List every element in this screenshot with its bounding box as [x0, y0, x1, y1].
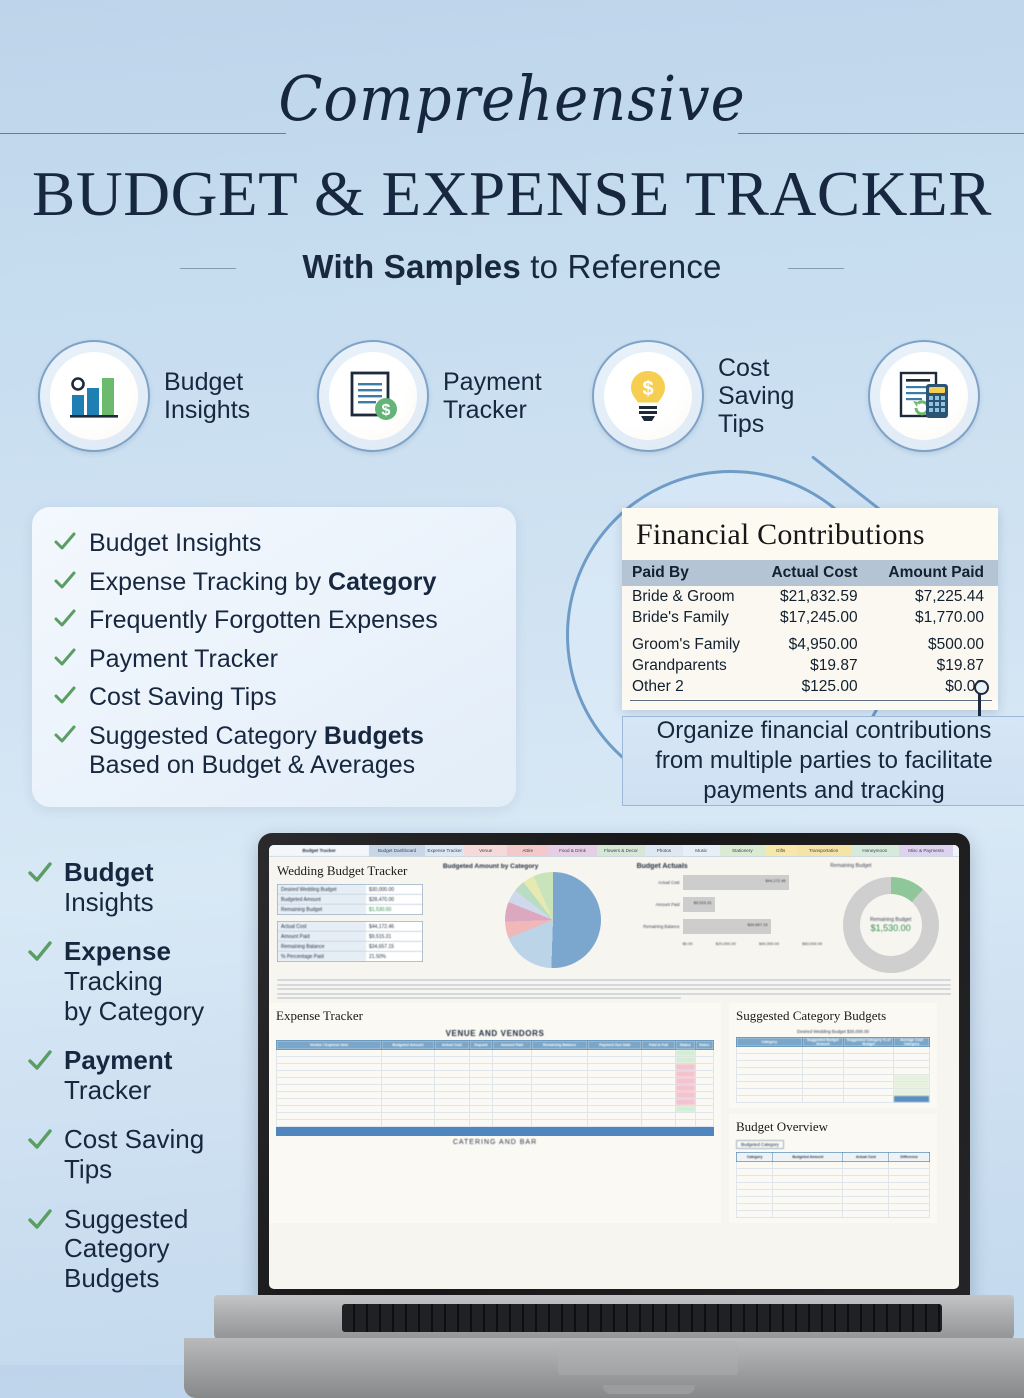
table-row: Groom's Family $4,950.00 $500.00: [622, 628, 998, 656]
bottom-list-text: PaymentTracker: [64, 1046, 172, 1105]
tab-food-drink[interactable]: Food & Drink: [548, 845, 596, 856]
bar-row: Actual Cost $44,172.46: [637, 875, 823, 890]
tab-music[interactable]: Music: [683, 845, 720, 856]
bottom-list-rest: Insights: [64, 887, 154, 917]
bottom-list-text: Suggested Category Budgets: [64, 1205, 188, 1294]
checklist-text-main: Expense Tracking by: [89, 568, 328, 596]
cell-value: $28,470.00: [366, 895, 422, 904]
checklist-text-main: Budget Insights: [89, 529, 261, 557]
table-header-row: Category Suggested Budget Amount Suggest…: [737, 1038, 930, 1047]
cell-value: 21.50%: [366, 952, 422, 961]
expense-tracker-title: Expense Tracker: [276, 1008, 714, 1024]
cell-paid-by: Bride & Groom: [622, 586, 755, 607]
bar: $34,657.15: [683, 919, 771, 934]
budget-overview-table[interactable]: Category Budgeted Amount Actual Cost Dif…: [736, 1152, 930, 1218]
bar-chart-title: Budget Actuals: [637, 863, 823, 870]
badge-document-calculator[interactable]: [868, 340, 980, 452]
table-row: % Percentage Paid21.50%: [278, 952, 422, 961]
table-row: Amount Paid$9,515.31: [278, 932, 422, 942]
list-item: Expense Tracking by Category: [54, 568, 496, 598]
column-header: Vendor / Expense Item: [277, 1041, 382, 1050]
badge-ring: $: [317, 340, 429, 452]
table-row: [277, 1057, 714, 1064]
cell-actual-cost: $19.87: [755, 656, 871, 677]
tab-photos[interactable]: Photos: [645, 845, 682, 856]
badge-cost-saving-tips[interactable]: $ Cost Saving Tips: [592, 340, 794, 452]
axis-tick: $20,000.00: [716, 941, 736, 946]
table-header-row: Paid By Actual Cost Amount Paid: [622, 560, 998, 586]
table-row: [737, 1183, 930, 1190]
column-header: Suggested Budget Amount: [802, 1038, 844, 1047]
cell-label: Desired Wedding Budget: [278, 885, 366, 894]
badge-label: Budget Insights: [164, 368, 250, 424]
checklist-text: Frequently Forgotten Expenses: [89, 606, 438, 636]
list-item: Payment Tracker: [54, 645, 496, 675]
suggested-budgets-panel: Suggested Category Budgets Desired Weddi…: [729, 1003, 937, 1108]
column-header: Average Cost Category: [894, 1038, 930, 1047]
cell-label: % Percentage Paid: [278, 952, 366, 961]
callout-box: Organize financial contributions from mu…: [622, 716, 1024, 806]
dashboard-row: Wedding Budget Tracker Desired Wedding B…: [277, 863, 951, 973]
column-header: Paid In Full: [642, 1041, 675, 1050]
table-row: Budgeted Amount$28,470.00: [278, 895, 422, 905]
checklist-text-main: Frequently Forgotten Expenses: [89, 606, 438, 634]
column-header: Deposit: [469, 1041, 493, 1050]
cell-label: Remaining Budget: [278, 905, 366, 914]
cell-amount-paid: $19.87: [872, 656, 998, 677]
checklist-text-main: Cost Saving Tips: [89, 683, 277, 711]
cell-paid-by: Bride's Family: [622, 607, 755, 628]
donut-caption: Remaining Budget: [830, 863, 951, 869]
budget-overview-title: Budget Overview: [736, 1119, 930, 1135]
badge-label: Cost Saving Tips: [718, 354, 794, 438]
list-item: Suggested Category Budgets Based on Budg…: [54, 722, 496, 781]
table-row: [737, 1061, 930, 1068]
table-row: [737, 1204, 930, 1211]
badge-ring: [868, 340, 980, 452]
tab-honeymoon[interactable]: Honeymoon: [851, 845, 899, 856]
bottom-list-text: BudgetInsights: [64, 858, 154, 917]
badge-label-line1: Budget: [164, 368, 250, 396]
badge-inner: [50, 352, 138, 440]
bottom-list-rest: Tracking by Category: [64, 966, 204, 1026]
bar: $44,172.46: [683, 875, 789, 890]
cell-value: $9,515.31: [366, 932, 422, 941]
cell-value: $34,657.15: [366, 942, 422, 951]
bar-chart-icon: [67, 371, 121, 421]
laptop-screen: Budget Tracker Budget Dashboard Expense …: [269, 845, 959, 1289]
table-row: [277, 1113, 714, 1120]
table-row: [277, 1085, 714, 1092]
table-row: [737, 1054, 930, 1061]
column-header-paid-by: Paid By: [622, 560, 755, 586]
bottom-feature-list: BudgetInsights ExpenseTracking by Catego…: [28, 858, 278, 1314]
check-icon: [28, 1209, 52, 1237]
bar-value: $34,657.15: [748, 922, 768, 927]
table-header-row: Category Budgeted Amount Actual Cost Dif…: [737, 1153, 930, 1162]
laptop-mockup: Budget Tracker Budget Dashboard Expense …: [258, 833, 970, 1365]
check-icon: [28, 1050, 52, 1078]
text-line: [277, 993, 951, 995]
cell-paid-by: Groom's Family: [622, 628, 755, 656]
table-row: Remaining Balance$34,657.15: [278, 942, 422, 952]
bar-row: Amount Paid $9,515.31: [637, 897, 823, 912]
table-row: [277, 1120, 714, 1127]
bar-chart-panel: Budget Actuals Actual Cost $44,172.46 Am…: [637, 863, 823, 973]
tab-expense-tracker[interactable]: Expense Tracker: [425, 845, 464, 856]
check-icon: [28, 862, 52, 890]
page-header: Comprehensive BUDGET & EXPENSE TRACKER W…: [0, 0, 1024, 320]
right-panels: Suggested Category Budgets Desired Weddi…: [729, 1003, 937, 1223]
column-header: Status: [675, 1041, 695, 1050]
overview-filter-row[interactable]: Budgeted Category: [736, 1140, 930, 1149]
lower-section: Expense Tracker VENUE AND VENDORS Vendor…: [269, 1003, 959, 1223]
badge-label-line2: Saving: [718, 382, 794, 410]
check-icon: [54, 609, 76, 635]
column-header: Payment Due Date: [588, 1041, 642, 1050]
feature-badges: Budget Insights $ Payment Tracker: [0, 340, 1024, 470]
badge-budget-insights[interactable]: Budget Insights: [38, 340, 250, 452]
feature-checklist-card: Budget Insights Expense Tracking by Cate…: [32, 507, 516, 807]
bar-chart-axis: $0.00 $20,000.00 $40,000.00 $60,000.00: [683, 941, 823, 946]
table-row: [737, 1197, 930, 1204]
badge-label-line1: Cost: [718, 354, 794, 382]
table-row: [737, 1075, 930, 1082]
badge-ring: [38, 340, 150, 452]
checklist-text-main: Payment Tracker: [89, 645, 278, 673]
svg-text:$: $: [382, 402, 391, 419]
axis-tick: $40,000.00: [759, 941, 779, 946]
expense-tracker-table[interactable]: Vendor / Expense Item Budgeted Amount Ac…: [276, 1040, 714, 1127]
budget-overview-panel: Budget Overview Budgeted Category Catego…: [729, 1114, 937, 1223]
checklist-text: Cost Saving Tips: [89, 683, 277, 713]
document-dollar-icon: $: [346, 369, 400, 423]
cell-label: Amount Paid: [278, 932, 366, 941]
badge-inner: [880, 352, 968, 440]
dashboard-section: Wedding Budget Tracker Desired Wedding B…: [269, 857, 959, 979]
table-row: [737, 1176, 930, 1183]
checklist-text-group: Suggested Category Budgets Based on Budg…: [89, 722, 424, 781]
overview-filter-dropdown[interactable]: Budgeted Category: [736, 1140, 784, 1149]
badge-label-line3: Tips: [718, 410, 794, 438]
table-row: [737, 1169, 930, 1176]
table-row: [737, 1047, 930, 1054]
table-underline: [630, 700, 992, 702]
bar-value: $44,172.46: [766, 878, 786, 883]
table-row: Grandparents $19.87 $19.87: [622, 656, 998, 677]
expense-bottom-section-header: CATERING AND BAR: [276, 1136, 714, 1149]
bottom-list-bold: Expense: [64, 936, 171, 966]
laptop-trackpad[interactable]: [558, 1341, 738, 1375]
table-row: [737, 1096, 930, 1103]
list-item: ExpenseTracking by Category: [28, 937, 278, 1026]
bar-row: Remaining Balance $34,657.15: [637, 919, 823, 934]
table-row: [737, 1162, 930, 1169]
laptop-keyboard[interactable]: [342, 1304, 942, 1332]
summary-table-actuals: Actual Cost$44,172.46 Amount Paid$9,515.…: [277, 921, 423, 962]
cell-paid-by: Other 2: [622, 677, 755, 698]
cell-amount-paid: $500.00: [872, 628, 998, 656]
cell-paid-by: Grandparents: [622, 656, 755, 677]
svg-text:$: $: [642, 378, 653, 400]
badge-inner: $: [604, 352, 692, 440]
pie-chart-title: Budgeted Amount by Category: [443, 863, 629, 870]
badge-label-line1: Payment: [443, 368, 542, 396]
list-item: Budget Insights: [54, 529, 496, 559]
cell-amount-paid: $1,770.00: [872, 607, 998, 628]
dashboard-title: Wedding Budget Tracker: [277, 863, 435, 879]
spreadsheet-tab-bar[interactable]: Budget Tracker Budget Dashboard Expense …: [269, 845, 959, 857]
suggested-budgets-subtitle: Desired Wedding Budget $30,000.00: [736, 1029, 930, 1034]
column-header: Remaining Balance: [531, 1041, 588, 1050]
table-row: [277, 1050, 714, 1057]
tab-flowers-decor[interactable]: Flowers & Decor: [597, 845, 645, 856]
list-item: PaymentTracker: [28, 1046, 278, 1105]
badge-label: Payment Tracker: [443, 368, 542, 424]
cell-label: Budgeted Amount: [278, 895, 366, 904]
bar: $9,515.31: [683, 897, 715, 912]
cell-actual-cost: $125.00: [755, 677, 871, 698]
pie-chart-panel: Budgeted Amount by Category: [443, 863, 629, 973]
cell-value: $44,172.46: [366, 922, 422, 931]
cell-value: $1,530.00: [366, 905, 422, 914]
expense-tracker-panel: Expense Tracker VENUE AND VENDORS Vendor…: [269, 1003, 721, 1223]
check-icon: [54, 648, 76, 674]
bar-value: $9,515.31: [694, 900, 712, 905]
bar-label: Amount Paid: [637, 902, 683, 907]
expense-section-header: VENUE AND VENDORS: [276, 1029, 714, 1038]
checklist-text: Suggested Category Budgets: [89, 722, 424, 750]
tab-attire[interactable]: Attire: [507, 845, 548, 856]
check-icon: [28, 941, 52, 969]
axis-tick: $0.00: [683, 941, 693, 946]
column-header: Category: [737, 1038, 803, 1047]
table-row: [737, 1211, 930, 1218]
badge-ring: $: [592, 340, 704, 452]
badge-inner: $: [329, 352, 417, 440]
bottom-list-rest: Tracker: [64, 1075, 151, 1105]
check-icon: [54, 571, 76, 597]
checklist-text-main: Suggested Category: [89, 722, 324, 750]
laptop-notch: [603, 1385, 695, 1394]
script-title: Comprehensive: [36, 62, 988, 135]
lightbulb-dollar-icon: $: [623, 368, 673, 424]
bottom-list-text: Cost Saving Tips: [64, 1125, 204, 1184]
page-subtitle: With Samples to Reference: [0, 248, 1024, 286]
table-row: Actual Cost$44,172.46: [278, 922, 422, 932]
checklist-text: Expense Tracking by Category: [89, 568, 436, 598]
table-row: [277, 1092, 714, 1099]
summary-table-budget: Desired Wedding Budget$30,000.00 Budgete…: [277, 884, 423, 915]
table-row: [737, 1089, 930, 1096]
table-row: Other 2 $125.00 $0.00: [622, 677, 998, 698]
bottom-list-text: ExpenseTracking by Category: [64, 937, 204, 1026]
checklist-text-bold: Budgets: [324, 722, 424, 750]
table-row: [737, 1190, 930, 1197]
column-header-actual-cost: Actual Cost: [755, 560, 871, 586]
financial-contributions-card: Financial Contributions Paid By Actual C…: [622, 508, 998, 710]
text-line: [277, 979, 951, 981]
page-title: BUDGET & EXPENSE TRACKER: [0, 158, 1024, 231]
instructions-block: [269, 979, 959, 999]
table-row: Desired Wedding Budget$30,000.00: [278, 885, 422, 895]
bar-label: Remaining Balance: [637, 924, 683, 929]
column-header: Actual Cost: [843, 1153, 889, 1162]
column-header: Difference: [889, 1153, 930, 1162]
checklist-text: Payment Tracker: [89, 645, 278, 675]
donut-value: $1,530.00: [871, 923, 911, 933]
check-icon: [54, 686, 76, 712]
text-line: [277, 997, 681, 999]
badge-label-line2: Insights: [164, 396, 250, 424]
cell-label: Remaining Balance: [278, 942, 366, 951]
table-row: [277, 1106, 714, 1113]
cell-actual-cost: $17,245.00: [755, 607, 871, 628]
column-header: Notes: [695, 1041, 713, 1050]
bar-label: Actual Cost: [637, 880, 683, 885]
table-row: Bride & Groom $21,832.59 $7,225.44: [622, 586, 998, 607]
axis-tick: $60,000.00: [802, 941, 822, 946]
subtitle-light: to Reference: [521, 248, 722, 285]
suggested-budgets-title: Suggested Category Budgets: [736, 1008, 930, 1024]
suggested-budgets-table[interactable]: Category Suggested Budget Amount Suggest…: [736, 1037, 930, 1103]
table-row: Remaining Budget$1,530.00: [278, 905, 422, 914]
list-item: Suggested Category Budgets: [28, 1205, 278, 1294]
cell-actual-cost: $4,950.00: [755, 628, 871, 656]
tab-budget-dashboard[interactable]: Budget Dashboard: [369, 845, 425, 856]
document-calculator-icon: [896, 370, 952, 422]
donut-chart-panel: Remaining Budget Remaining Budget $1,530…: [830, 863, 951, 973]
text-line: [277, 988, 951, 990]
pie-chart: [505, 872, 601, 968]
list-item: Cost Saving Tips: [54, 683, 496, 713]
check-icon: [54, 532, 76, 558]
check-icon: [28, 1129, 52, 1157]
expense-footer-bar: [276, 1127, 714, 1136]
list-item: BudgetInsights: [28, 858, 278, 917]
column-header: Amount Paid: [493, 1041, 531, 1050]
table-header-row: Vendor / Expense Item Budgeted Amount Ac…: [277, 1041, 714, 1050]
tab-gifts[interactable]: Gifts: [765, 845, 797, 856]
laptop-lid: Budget Tracker Budget Dashboard Expense …: [258, 833, 970, 1303]
checklist-subtext: Based on Budget & Averages: [89, 751, 424, 781]
donut-center: Remaining Budget $1,530.00: [860, 894, 922, 956]
table-row: [737, 1082, 930, 1089]
cell-amount-paid: $7,225.44: [872, 586, 998, 607]
tab-venue[interactable]: Venue: [464, 845, 507, 856]
column-header: Actual Cost: [434, 1041, 469, 1050]
tab-transportation[interactable]: Transportation: [797, 845, 851, 856]
list-item: Cost Saving Tips: [28, 1125, 278, 1184]
bottom-list-bold: Payment: [64, 1045, 172, 1075]
column-header: Budgeted Amount: [773, 1153, 843, 1162]
subtitle-strong: With Samples: [302, 248, 520, 285]
tab-misc-payments[interactable]: Misc & Payments: [899, 845, 953, 856]
text-line: [277, 984, 951, 986]
column-header-amount-paid: Amount Paid: [872, 560, 998, 586]
tab-budget-tracker[interactable]: Budget Tracker: [269, 845, 369, 856]
badge-payment-tracker[interactable]: $ Payment Tracker: [317, 340, 542, 452]
table-row: [277, 1078, 714, 1085]
table-row: [737, 1068, 930, 1075]
check-icon: [54, 725, 76, 751]
donut-chart: Remaining Budget $1,530.00: [843, 877, 939, 973]
column-header: Suggested Category % of Budget: [844, 1038, 894, 1047]
list-item: Frequently Forgotten Expenses: [54, 606, 496, 636]
dashboard-summary-column: Wedding Budget Tracker Desired Wedding B…: [277, 863, 435, 973]
tab-empty[interactable]: [953, 845, 959, 856]
table-row: [277, 1071, 714, 1078]
badge-label-line2: Tracker: [443, 396, 542, 424]
financial-card-title: Financial Contributions: [622, 508, 998, 560]
table-row: [277, 1099, 714, 1106]
bottom-list-bold: Budget: [64, 857, 154, 887]
cell-actual-cost: $21,832.59: [755, 586, 871, 607]
column-header: Category: [737, 1153, 773, 1162]
financial-contributions-table: Paid By Actual Cost Amount Paid Bride & …: [622, 560, 998, 698]
tab-stationery[interactable]: Stationery: [720, 845, 765, 856]
cell-label: Actual Cost: [278, 922, 366, 931]
table-row: [277, 1064, 714, 1071]
checklist-text: Budget Insights: [89, 529, 261, 559]
checklist-text-bold: Category: [328, 568, 436, 596]
cell-value: $30,000.00: [366, 885, 422, 894]
column-header: Budgeted Amount: [381, 1041, 434, 1050]
table-row: Bride's Family $17,245.00 $1,770.00: [622, 607, 998, 628]
